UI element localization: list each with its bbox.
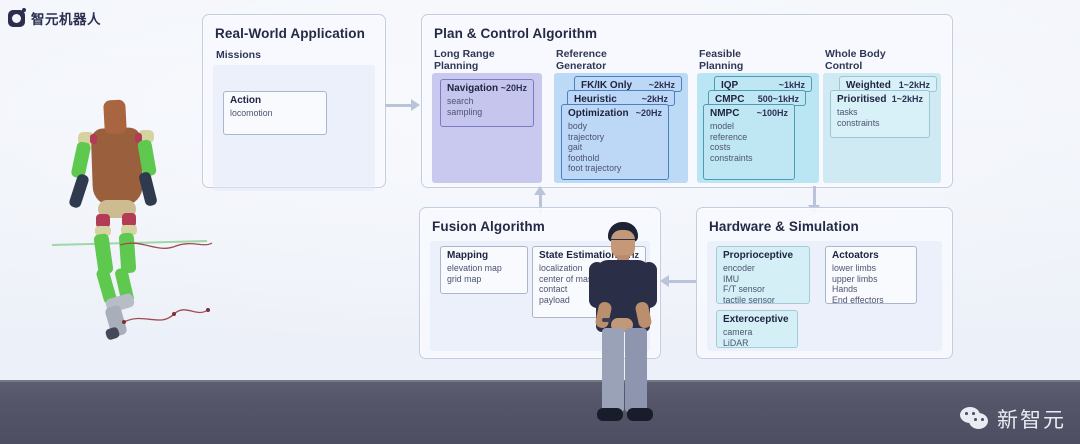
panel-title-real-world: Real-World Application [215, 26, 365, 41]
card-nmpc-title: NMPC [710, 108, 739, 119]
card-prioritised[interactable]: Prioritised 1~2kHz tasks constraints [830, 90, 930, 138]
presenter-watch [602, 318, 611, 322]
presenter-shoe-right [627, 408, 653, 421]
presenter-glasses [611, 239, 635, 244]
presenter-head [611, 230, 635, 258]
card-mapping-body: elevation map grid map [447, 263, 502, 284]
projected-slide: Real-World Application Missions Action l… [0, 0, 1080, 382]
watermark-text: 新智元 [997, 404, 1066, 434]
card-action-body: locomotion [230, 108, 273, 119]
arrow-realworld-to-plan [385, 99, 421, 111]
card-navigation-freq: ~20Hz [501, 83, 527, 93]
presenter-shoe-left [597, 408, 623, 421]
card-heuristic-freq: ~2kHz [642, 94, 668, 104]
subhead-long-range-planning: Long Range Planning [434, 48, 495, 72]
card-fk-ik-only-freq: ~2kHz [649, 80, 675, 90]
card-exteroceptive-title: Exteroceptive [723, 314, 789, 325]
card-prioritised-freq: 1~2kHz [892, 94, 923, 104]
card-iqp-freq: ~1kHz [779, 80, 805, 90]
watermark: 新智元 [960, 404, 1066, 434]
card-navigation-body: search sampling [447, 96, 482, 117]
card-cmpc-freq: 500~1kHz [758, 94, 799, 104]
card-action-title: Action [230, 95, 261, 106]
card-nmpc[interactable]: NMPC ~100Hz model reference costs constr… [703, 104, 795, 180]
panel-title-fusion: Fusion Algorithm [432, 219, 545, 234]
card-actoators[interactable]: Actoators lower limbs upper limbs Hands … [825, 246, 917, 304]
card-proprioceptive[interactable]: Proprioceptive encoder IMU F/T sensor ta… [716, 246, 810, 304]
card-actoators-title: Actoators [832, 250, 879, 261]
presenter-on-stage [575, 222, 673, 434]
card-proprioceptive-title: Proprioceptive [723, 250, 793, 261]
panel-title-plan-control: Plan & Control Algorithm [434, 26, 597, 41]
card-prioritised-title: Prioritised [837, 94, 886, 105]
presenter-jeans-left [602, 328, 624, 412]
screenshot-root: 智元机器人 [0, 0, 1080, 444]
panel-real-world-application: Real-World Application Missions Action l… [202, 14, 386, 188]
card-optimization-body: body trajectory gait foothold foot traje… [568, 121, 621, 174]
presenter-jeans-right [625, 328, 647, 412]
card-exteroceptive[interactable]: Exteroceptive camera LiDAR [716, 310, 798, 348]
card-exteroceptive-body: camera LiDAR [723, 327, 752, 348]
card-optimization[interactable]: Optimization ~20Hz body trajectory gait … [561, 104, 669, 180]
card-proprioceptive-body: encoder IMU F/T sensor tactile sensor [723, 263, 775, 305]
card-optimization-title: Optimization [568, 108, 629, 119]
panel-plan-control-algorithm: Plan & Control Algorithm Long Range Plan… [421, 14, 953, 188]
card-mapping-title: Mapping [447, 250, 488, 261]
subhead-missions: Missions [216, 49, 261, 61]
card-action[interactable]: Action locomotion [223, 91, 327, 135]
wechat-icon [960, 407, 990, 431]
subhead-reference-generator: Reference Generator [556, 48, 607, 72]
panel-title-hardware: Hardware & Simulation [709, 219, 859, 234]
subhead-feasible-planning: Feasible Planning [699, 48, 743, 72]
card-weighted-freq: 1~2kHz [899, 80, 930, 90]
card-nmpc-freq: ~100Hz [757, 108, 788, 118]
card-navigation[interactable]: Navigation ~20Hz search sampling [440, 79, 534, 127]
card-prioritised-body: tasks constraints [837, 107, 880, 128]
stage-floor [0, 380, 1080, 444]
card-navigation-title: Navigation [447, 83, 498, 94]
card-actoators-body: lower limbs upper limbs Hands End effect… [832, 263, 884, 305]
card-nmpc-body: model reference costs constraints [710, 121, 753, 163]
card-mapping[interactable]: Mapping elevation map grid map [440, 246, 528, 294]
panel-hardware-simulation: Hardware & Simulation Proprioceptive enc… [696, 207, 953, 359]
card-optimization-freq: ~20Hz [636, 108, 662, 118]
subhead-whole-body-control: Whole Body Control [825, 48, 886, 72]
